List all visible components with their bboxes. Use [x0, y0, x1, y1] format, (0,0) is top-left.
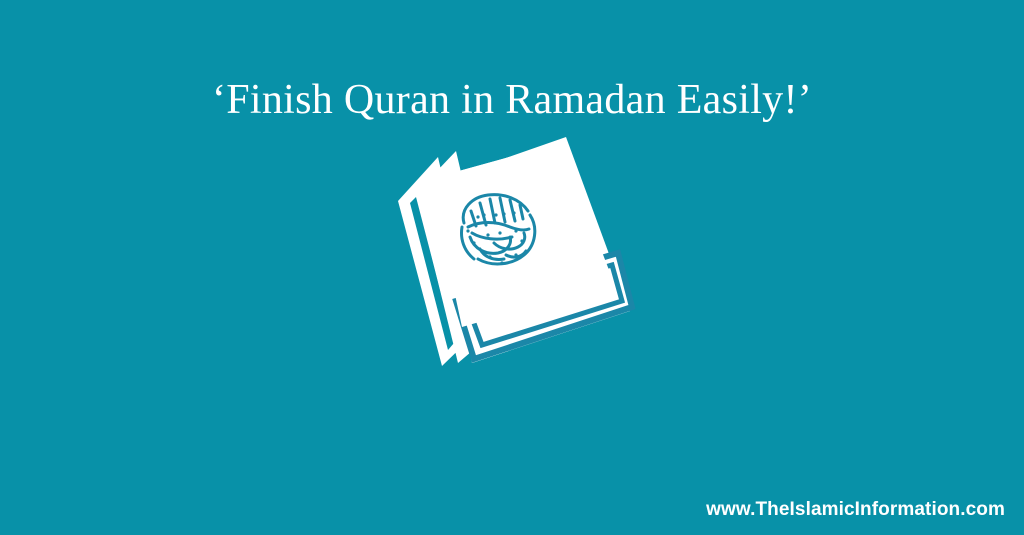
quran-book-illustration	[386, 131, 636, 376]
website-url: www.TheIslamicInformation.com	[706, 499, 1005, 521]
page-title: ‘Finish Quran in Ramadan Easily!’	[0, 74, 1024, 126]
quran-book-icon	[386, 131, 636, 376]
poster-canvas: ‘Finish Quran in Ramadan Easily!’	[0, 0, 1024, 535]
